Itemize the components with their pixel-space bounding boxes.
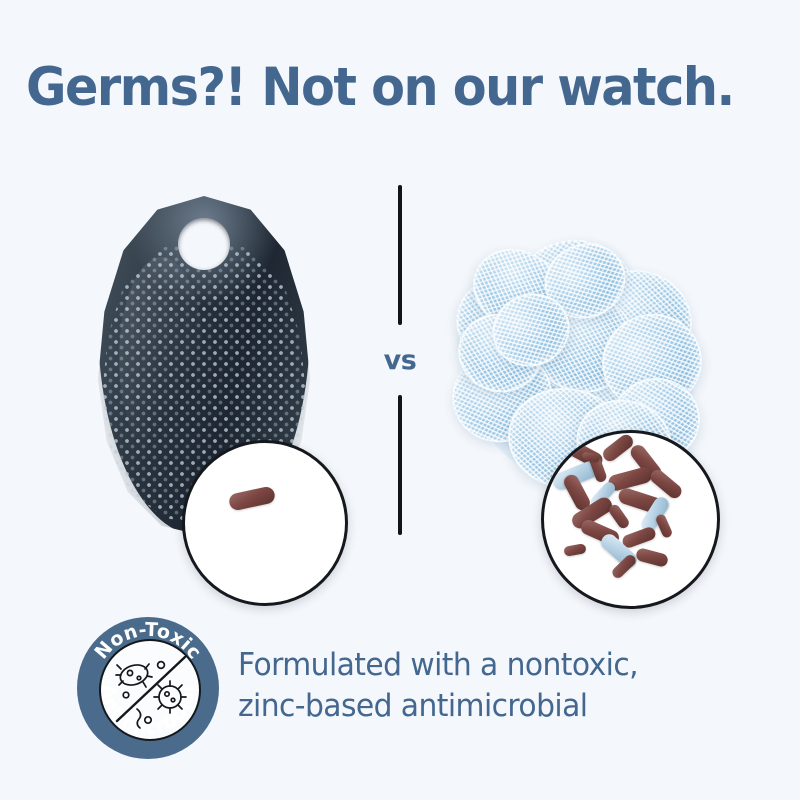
versus-label: vs bbox=[384, 343, 417, 378]
germ-magnifier-clean bbox=[182, 440, 348, 606]
badge-top-text: Non-Toxic bbox=[90, 619, 206, 664]
divider-line-bottom bbox=[398, 395, 402, 535]
germ bbox=[635, 547, 669, 568]
versus-divider: vs bbox=[366, 185, 434, 535]
badge-artwork: Non-Toxic Antimicrobial bbox=[77, 617, 219, 759]
tagline-line-1: Formulated with a nontoxic, bbox=[238, 645, 747, 686]
svg-text:Non-Toxic: Non-Toxic bbox=[90, 619, 206, 664]
tagline: Formulated with a nontoxic, zinc-based a… bbox=[238, 645, 747, 727]
page-title: Germs?! Not on our watch. bbox=[26, 60, 733, 116]
germ bbox=[607, 503, 631, 531]
germ bbox=[655, 513, 674, 539]
germ-magnifier-dirty bbox=[541, 430, 720, 609]
germ bbox=[600, 432, 635, 464]
promo-canvas: Germs?! Not on our watch. vs bbox=[0, 0, 800, 800]
germ bbox=[228, 485, 277, 511]
divider-line-top bbox=[398, 185, 402, 325]
scrubber-hang-hole bbox=[178, 218, 230, 270]
germ bbox=[563, 543, 586, 557]
non-toxic-antimicrobial-badge: Non-Toxic Antimicrobial bbox=[77, 617, 219, 759]
tagline-line-2: zinc-based antimicrobial bbox=[238, 686, 747, 727]
